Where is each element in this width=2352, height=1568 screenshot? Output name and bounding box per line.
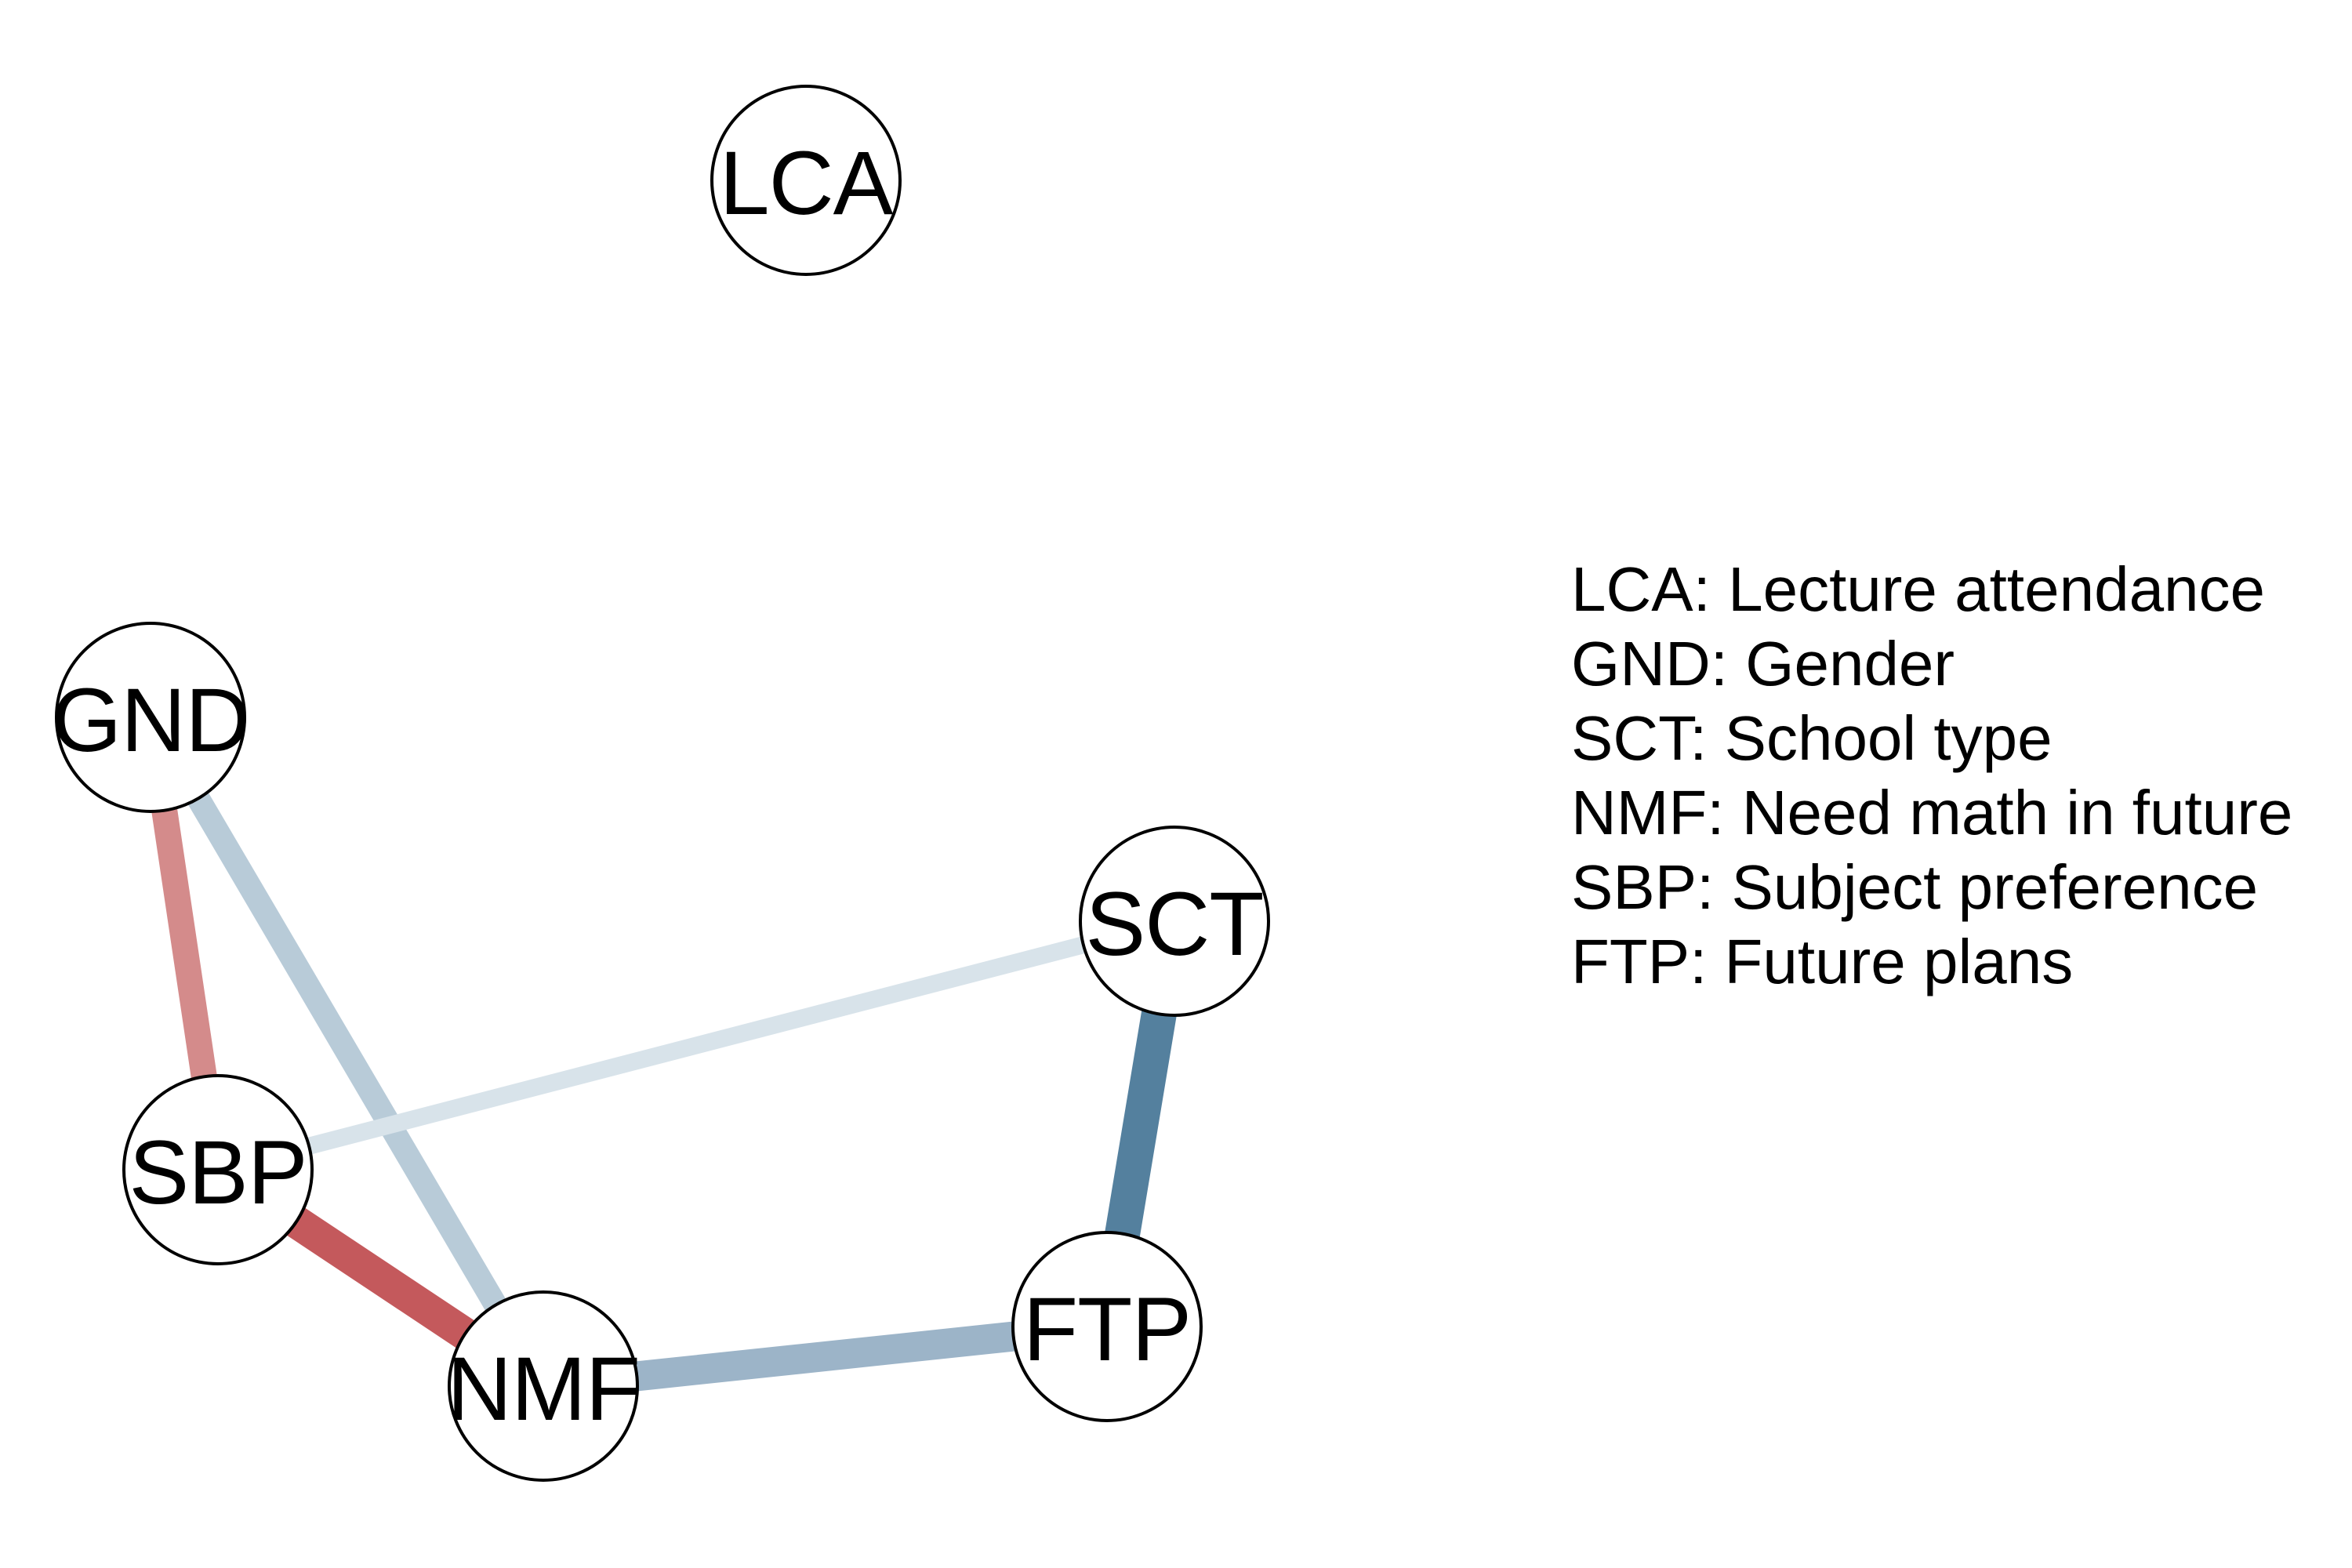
node-sct[interactable]: SCT [1080, 827, 1269, 1015]
node-gnd[interactable]: GND [52, 623, 250, 811]
network-figure: LCAGNDSCTSBPNMFFTP LCA: Lecture attendan… [0, 0, 2352, 1568]
legend-line-1: LCA: Lecture attendance [1571, 552, 2292, 626]
legend-line-4: NMF: Need math in future [1571, 775, 2292, 850]
node-ftp[interactable]: FTP [1013, 1232, 1201, 1421]
edge-nmf-ftp [633, 1336, 1016, 1377]
node-label-lca: LCA [720, 133, 894, 234]
node-label-ftp: FTP [1023, 1279, 1191, 1380]
edge-sbp-sct [306, 944, 1086, 1147]
nodes-layer: LCAGNDSCTSBPNMFFTP [52, 86, 1269, 1480]
node-label-sct: SCT [1086, 874, 1264, 975]
legend-line-5: SBP: Subject preference [1571, 850, 2292, 924]
edges-layer [164, 796, 1160, 1377]
node-label-sbp: SBP [129, 1123, 307, 1223]
node-label-nmf: NMF [447, 1339, 640, 1439]
edge-sct-ftp [1122, 1011, 1160, 1236]
node-lca[interactable]: LCA [712, 86, 900, 274]
legend-line-2: GND: Gender [1571, 626, 2292, 701]
legend-line-3: SCT: School type [1571, 701, 2292, 775]
edge-gnd-sbp [164, 808, 205, 1080]
node-label-gnd: GND [52, 670, 250, 771]
abbreviation-legend: LCA: Lecture attendanceGND: GenderSCT: S… [1571, 552, 2292, 999]
node-nmf[interactable]: NMF [447, 1292, 640, 1480]
edge-sbp-nmf [294, 1220, 468, 1336]
node-sbp[interactable]: SBP [124, 1076, 312, 1264]
legend-line-6: FTP: Future plans [1571, 924, 2292, 999]
